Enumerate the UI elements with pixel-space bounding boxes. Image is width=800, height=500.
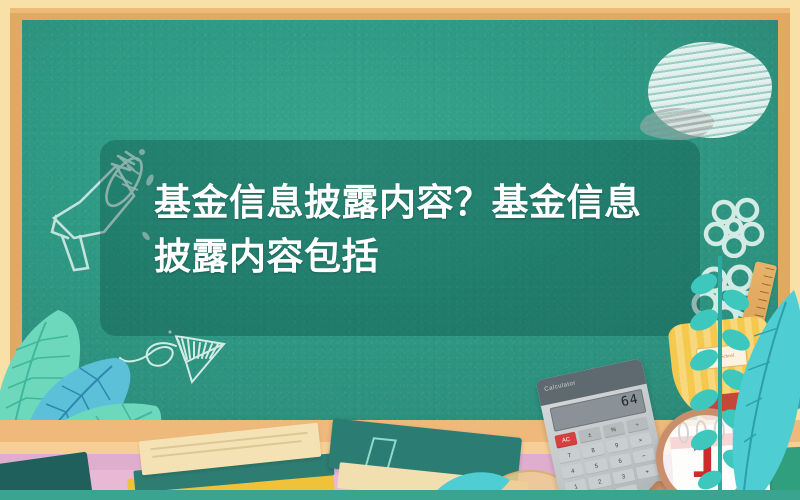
calculator-key: 4: [561, 463, 584, 480]
calculator-key: ±: [578, 426, 601, 443]
calculator-keypad: AC ± % ÷ 7 8 9 × 4 5 6 − 1 2 3 + 0 . =: [554, 416, 662, 500]
calculator-key: 2: [588, 473, 611, 490]
calculator-key: 6: [608, 453, 631, 470]
poster-canvas: 基金信息披露内容？基金信息披露内容包括: [0, 0, 800, 500]
calculator-key: 3: [612, 468, 635, 485]
calculator-key: %: [602, 421, 625, 438]
calculator-key: 8: [581, 442, 604, 459]
desk-band-teal: [0, 490, 800, 500]
calculator-brand: Calculator: [544, 380, 577, 393]
calculator-key: 9: [605, 437, 628, 454]
calculator-key: 5: [585, 458, 608, 475]
calculator-key: −: [632, 448, 655, 465]
mint-leaf-icon: [728, 288, 800, 500]
calculator-key: ×: [629, 432, 652, 449]
calculator-key: 7: [558, 447, 581, 464]
calculator-display-value: 64: [620, 392, 640, 410]
page-title: 基金信息披露内容？基金信息披露内容包括: [154, 176, 654, 284]
flower-icon: [702, 196, 768, 258]
board-frame-highlight: [10, 8, 790, 13]
calculator-key: ÷: [626, 416, 649, 433]
calculator-key: +: [636, 463, 659, 480]
calculator-key: AC: [554, 432, 577, 449]
